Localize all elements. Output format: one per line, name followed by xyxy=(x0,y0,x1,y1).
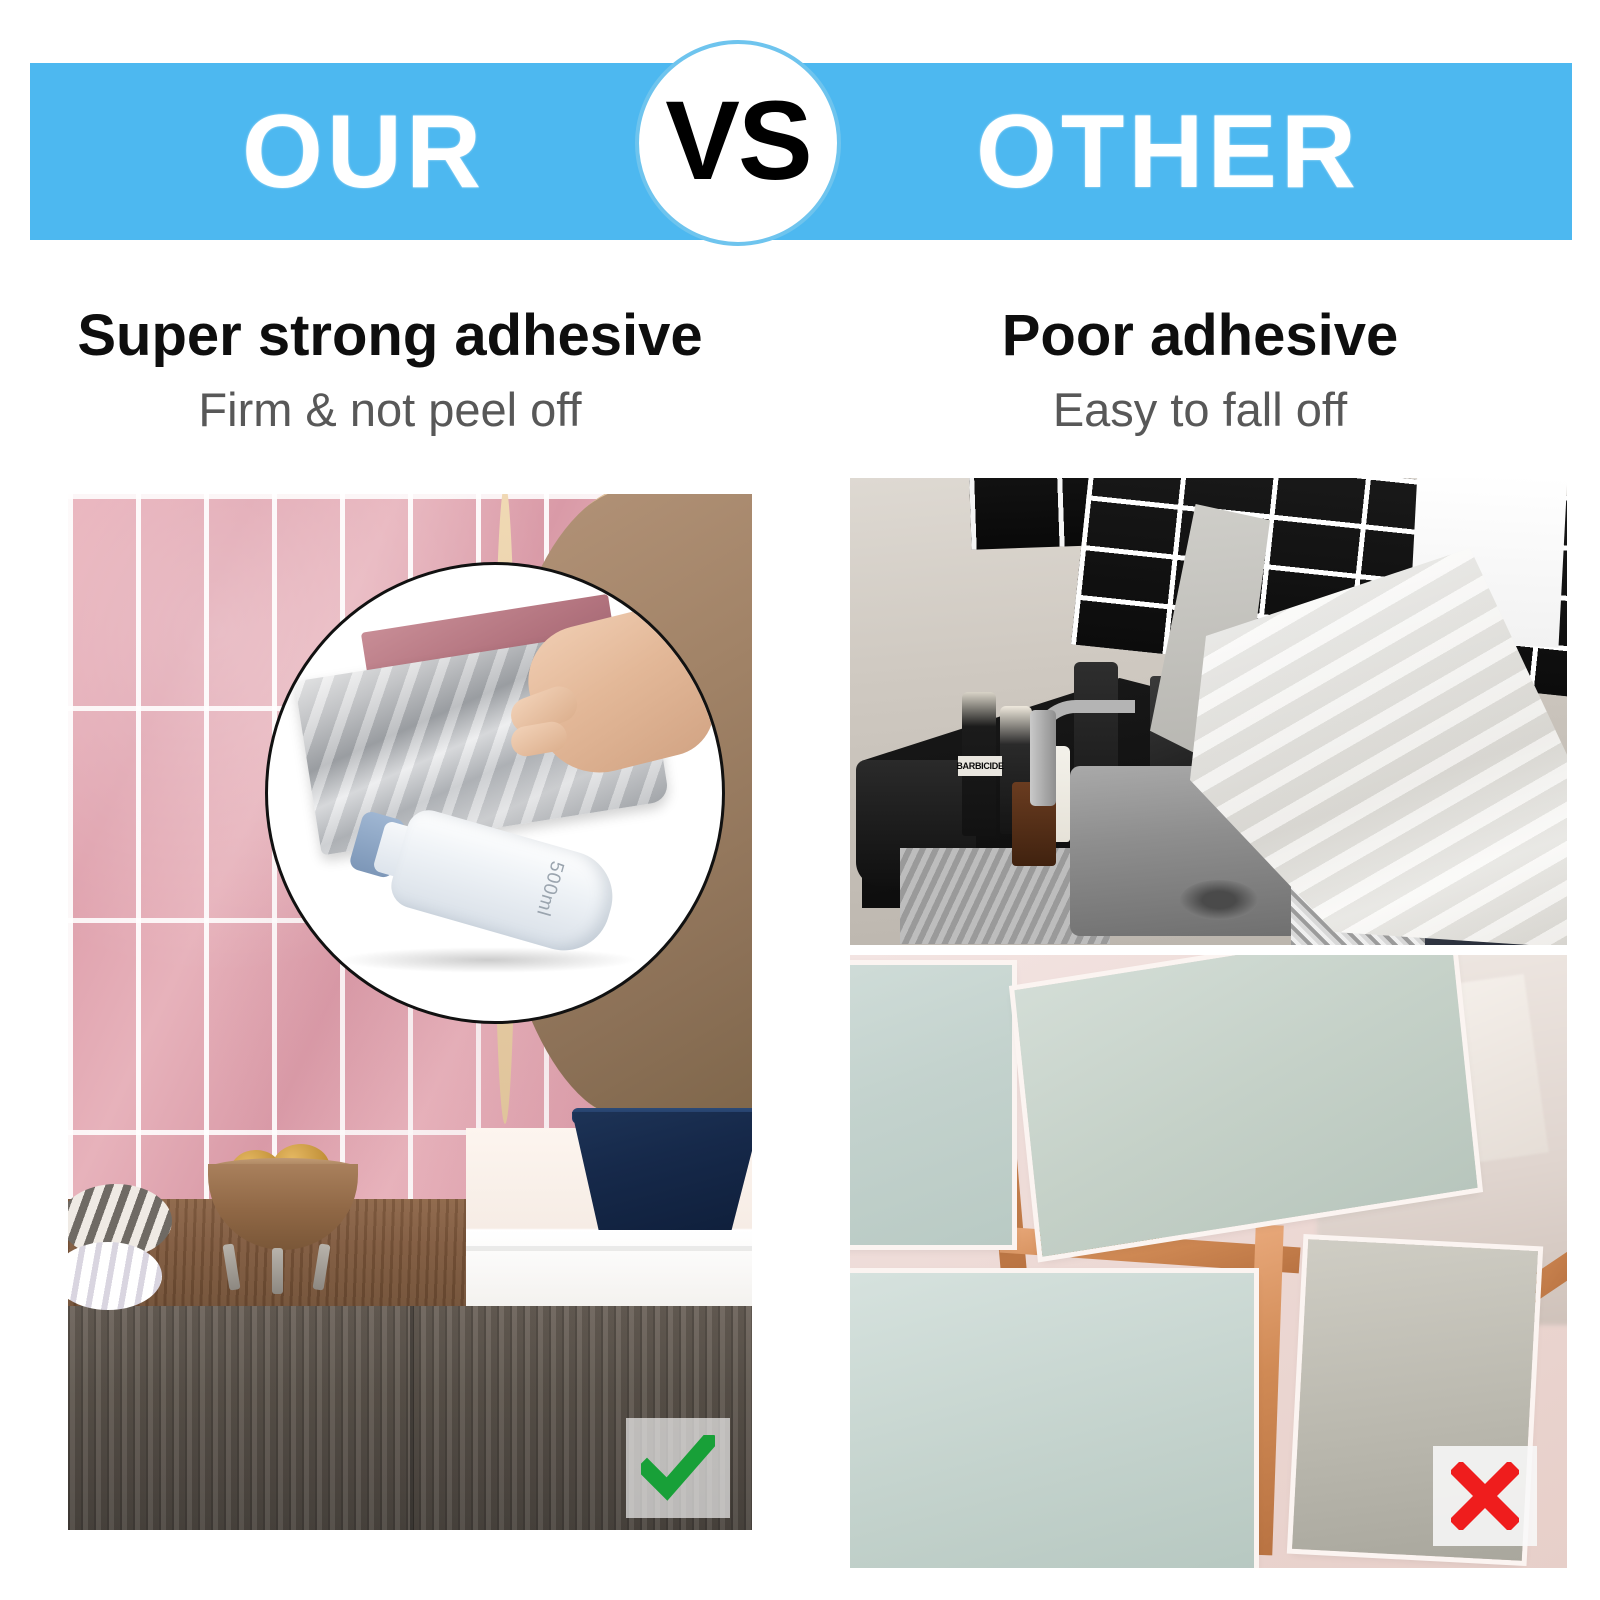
wooden-bowl xyxy=(208,1164,358,1250)
bottle-volume-label: 500ml xyxy=(531,858,568,919)
faucet-base xyxy=(1030,710,1056,806)
mint-tile xyxy=(850,1273,1254,1568)
right-title: Poor adhesive xyxy=(800,305,1600,368)
left-subtitle: Firm & not peel off xyxy=(0,384,780,436)
right-top-failure-photo: BARBICIDE xyxy=(850,478,1567,945)
wooden-bowl-with-sponges xyxy=(198,1156,366,1296)
check-icon xyxy=(641,1435,715,1501)
banner-other-label: OTHER xyxy=(976,63,1360,240)
status-badge-rejected xyxy=(1433,1446,1537,1546)
bowl-leg xyxy=(272,1248,283,1294)
right-column-heading: Poor adhesive Easy to fall off xyxy=(800,305,1600,435)
right-subtitle: Easy to fall off xyxy=(800,384,1600,436)
mint-tile xyxy=(850,965,1012,1245)
left-product-photo: 500ml xyxy=(68,494,752,1530)
white-towel xyxy=(68,1242,162,1310)
vs-badge: VS xyxy=(635,40,841,246)
status-badge-approved xyxy=(626,1418,730,1518)
vs-label: VS xyxy=(665,85,810,197)
cross-icon xyxy=(1451,1462,1519,1530)
banner-our-label: OUR xyxy=(242,63,485,240)
product-circle-inset: 500ml xyxy=(265,562,725,1024)
barbicide-label: BARBICIDE xyxy=(958,756,1002,776)
navy-vessel-sink xyxy=(572,1112,752,1230)
left-title: Super strong adhesive xyxy=(0,305,780,368)
rolled-towels xyxy=(68,1184,180,1314)
sink-drain xyxy=(1180,880,1258,920)
vanity-seam xyxy=(410,1306,414,1530)
bowl-leg xyxy=(312,1243,330,1290)
bowl-leg xyxy=(222,1243,240,1290)
left-column-heading: Super strong adhesive Firm & not peel of… xyxy=(0,305,780,435)
right-bottom-failure-photo xyxy=(850,955,1567,1568)
bottle-body: 500ml xyxy=(386,805,623,961)
